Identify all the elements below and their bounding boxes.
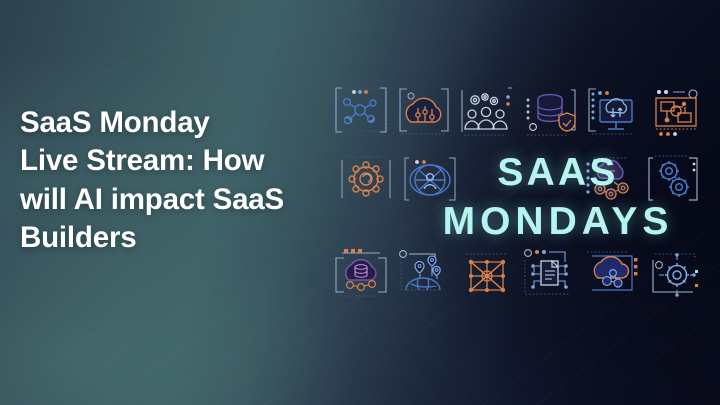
wordmark-line-mondays: MONDAYS — [442, 202, 674, 241]
gear-cog-network-icon — [338, 152, 396, 207]
banner-canvas: SaaS Monday Live Stream: How will AI imp… — [0, 0, 720, 405]
data-transfer-network-icon — [647, 84, 705, 139]
gear-circuit-icon — [647, 246, 705, 301]
dual-gears-icon — [645, 152, 703, 207]
icon-row-top — [332, 84, 705, 139]
cloud-database-icon — [332, 246, 390, 301]
cloud-nodes-orange-icon — [582, 152, 640, 207]
database-shield-icon — [521, 84, 579, 139]
document-circuit-icon — [521, 246, 579, 301]
globe-location-pins-icon — [395, 246, 453, 301]
icon-row-middle-left — [338, 152, 459, 207]
headline-line-4: Builders — [20, 219, 342, 257]
mesh-network-star-icon — [458, 246, 516, 301]
team-gears-icon — [458, 84, 516, 139]
cloud-settings-sliders-icon — [395, 84, 453, 139]
banner-headline: SaaS Monday Live Stream: How will AI imp… — [20, 104, 342, 258]
globe-user-icon — [401, 152, 459, 207]
tech-icon-graphic: SAAS MONDAYS — [330, 78, 715, 323]
cloud-connection-icon — [584, 246, 642, 301]
headline-line-3: will AI impact SaaS — [20, 181, 342, 219]
icon-row-middle-right — [582, 152, 703, 207]
icon-row-bottom — [332, 246, 705, 301]
molecule-network-icon — [332, 84, 390, 139]
headline-line-2: Live Stream: How — [20, 142, 342, 180]
headline-line-1: SaaS Monday — [20, 104, 342, 142]
monitor-cloud-sync-icon — [584, 84, 642, 139]
